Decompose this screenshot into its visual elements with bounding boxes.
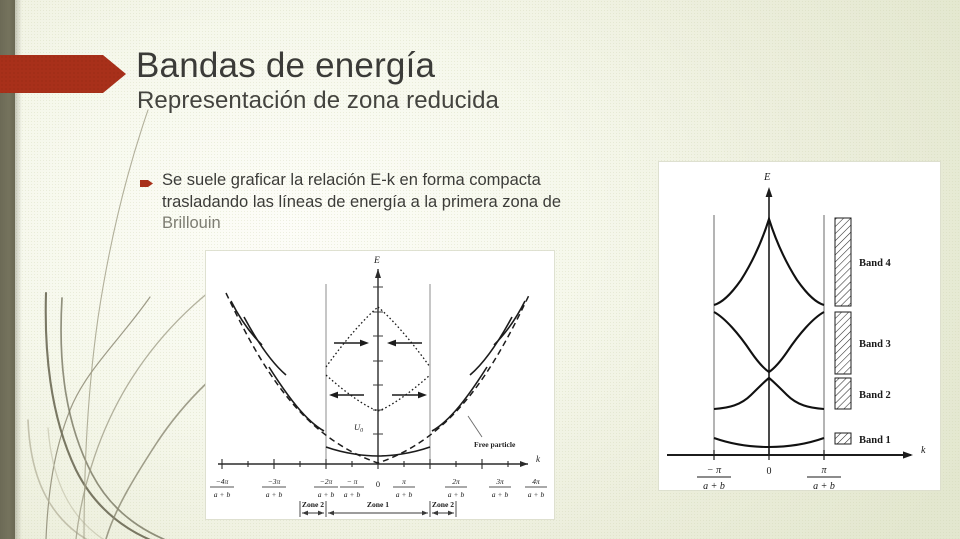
band-label-4: Band 4 xyxy=(859,258,892,269)
x-tick-label-7: 3π a + b xyxy=(489,477,511,499)
svg-text:a + b: a + b xyxy=(214,490,231,499)
extended-zone-svg: k E U0 xyxy=(206,251,554,519)
svg-text:−3π: −3π xyxy=(268,477,281,486)
y-axis-label: E xyxy=(373,256,380,266)
band-2-solid-right xyxy=(432,367,487,431)
x-tick-label-minus-pi: − π a + b xyxy=(697,465,731,490)
svg-text:3π: 3π xyxy=(495,477,504,486)
svg-text:a + b: a + b xyxy=(813,481,835,490)
svg-text:a + b: a + b xyxy=(396,490,413,499)
x-tick-label-origin: 0 xyxy=(767,466,772,477)
zone-bracket-label-center: Zone 1 xyxy=(367,500,389,509)
svg-text:a + b: a + b xyxy=(344,490,361,499)
svg-text:2π: 2π xyxy=(452,477,460,486)
bullet-item-text: Se suele graficar la relación E-k en for… xyxy=(162,170,582,235)
svg-text:− π: − π xyxy=(707,465,722,476)
band-2-solid-left xyxy=(269,367,324,431)
free-particle-leader-line xyxy=(468,416,482,437)
svg-text:a + b: a + b xyxy=(318,490,335,499)
free-particle-annotation: Free particle xyxy=(474,440,516,449)
y-axis-arrowhead xyxy=(375,269,381,278)
zone-bracket-label-left: Zone 2 xyxy=(302,500,324,509)
band-label-2: Band 2 xyxy=(859,390,891,401)
slide-canvas: Bandas de energía Representación de zona… xyxy=(0,0,960,539)
translated-band-3-left xyxy=(326,375,378,411)
page-subtitle: Representación de zona reducida xyxy=(137,88,499,114)
svg-text:π: π xyxy=(402,477,406,486)
x-tick-label-2: −2π a + b xyxy=(314,477,338,499)
svg-text:a + b: a + b xyxy=(703,481,725,490)
band-label-3: Band 3 xyxy=(859,339,891,350)
svg-text:− π: − π xyxy=(347,477,358,486)
svg-text:a + b: a + b xyxy=(448,490,465,499)
page-title: Bandas de energía xyxy=(136,48,435,85)
x-axis-arrowhead xyxy=(903,451,913,458)
x-tick-label-group: − π a + b 0 π a + b xyxy=(697,465,841,490)
band-3-hatch-bar xyxy=(835,312,851,374)
x-tick-label-3: − π a + b xyxy=(340,477,364,499)
translated-band-4-left xyxy=(326,307,378,367)
x-tick-label-origin: 0 xyxy=(376,480,380,489)
svg-text:a + b: a + b xyxy=(492,490,509,499)
svg-text:a + b: a + b xyxy=(266,490,283,499)
x-tick-label-group: −4π a + b −3π a + b −2π a + b − π xyxy=(210,477,547,499)
x-tick-label-0: −4π a + b xyxy=(210,477,234,499)
band-2-hatch-bar xyxy=(835,378,851,409)
reduced-zone-svg: k E Band 4 Band 3 xyxy=(659,162,940,490)
translated-band-3-right xyxy=(378,375,430,411)
translated-band-4-right xyxy=(378,307,430,367)
x-tick-label-6: 2π a + b xyxy=(445,477,467,499)
y-axis-arrowhead xyxy=(766,187,773,197)
svg-text:a + b: a + b xyxy=(528,490,545,499)
x-axis-arrowhead xyxy=(520,461,528,467)
potential-label: U0 xyxy=(354,422,363,434)
zone-bracket-label-right: Zone 2 xyxy=(432,500,454,509)
x-tick-label-1: −3π a + b xyxy=(262,477,286,499)
title-accent-arrow xyxy=(0,55,126,93)
svg-text:−2π: −2π xyxy=(320,477,333,486)
x-tick-label-5: π a + b xyxy=(393,477,415,499)
figure-extended-zone: k E U0 xyxy=(206,251,554,519)
figure-reduced-zone: k E Band 4 Band 3 xyxy=(659,162,940,490)
band-3-solid-right xyxy=(470,317,512,375)
svg-text:π: π xyxy=(821,465,827,476)
bullet-item-main: Se suele graficar la relación E-k en for… xyxy=(162,171,561,211)
band-label-1: Band 1 xyxy=(859,435,891,446)
x-axis-label: k xyxy=(921,445,926,456)
svg-text:−4π: −4π xyxy=(216,477,229,486)
bullet-arrow-icon xyxy=(140,179,153,188)
y-axis-label: E xyxy=(763,172,771,183)
bullet-item-highlight: Brillouin xyxy=(162,214,221,232)
band-4-hatch-bar xyxy=(835,218,851,306)
x-tick-label-plus-pi: π a + b xyxy=(807,465,841,490)
svg-text:4π: 4π xyxy=(532,477,540,486)
x-axis-label: k xyxy=(536,454,541,464)
band-1-hatch-bar xyxy=(835,433,851,444)
x-tick-label-8: 4π a + b xyxy=(525,477,547,499)
